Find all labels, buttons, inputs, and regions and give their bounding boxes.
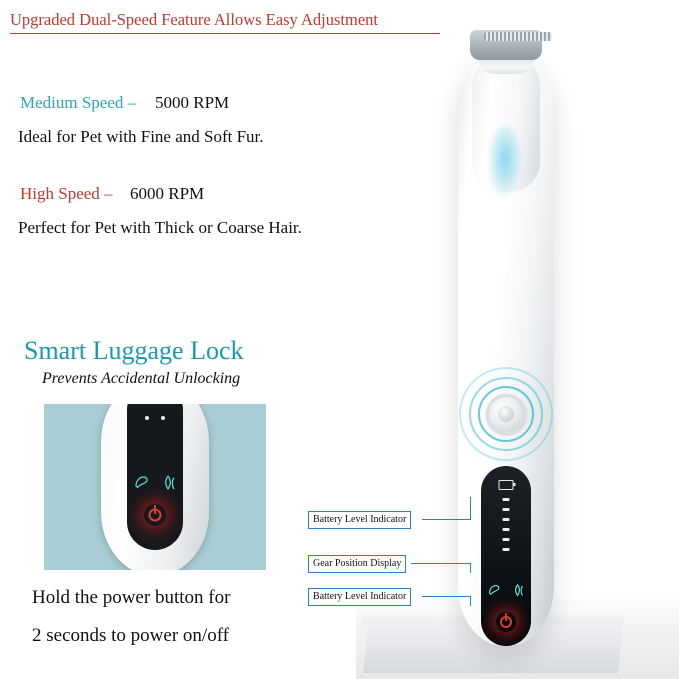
high-speed-name: High Speed [20, 184, 100, 203]
low-gear-icon [133, 474, 151, 492]
blade-teeth [484, 32, 552, 41]
battery-bar-4 [503, 528, 510, 531]
power-symbol-icon [144, 504, 166, 526]
high-speed-dash: – [104, 184, 113, 203]
callout-leader-2-vertical [470, 563, 471, 573]
battery-icon [499, 480, 514, 490]
medium-speed-description: Ideal for Pet with Fine and Soft Fur. [18, 127, 264, 147]
smart-lock-subtitle: Prevents Accidental Unlocking [42, 370, 240, 388]
battery-bar-5 [503, 538, 510, 541]
closeup-panel-photo [44, 404, 266, 570]
page-title: Upgraded Dual-Speed Feature Allows Easy … [10, 10, 378, 30]
battery-bar-2 [503, 508, 510, 511]
power-instruction-line-1: Hold the power button for [32, 587, 230, 609]
high-gear-icon [510, 583, 525, 598]
medium-speed-dash: – [128, 93, 137, 112]
power-instruction-line-2: 2 seconds to power on/off [32, 625, 229, 647]
battery-bar-3 [503, 518, 510, 521]
medium-speed-value: 5000 RPM [155, 93, 229, 113]
blue-glow-highlight [488, 126, 522, 200]
callout-battery-level-top: Battery Level Indicator [308, 511, 411, 529]
power-symbol-icon [496, 612, 516, 632]
product-infographic: Upgraded Dual-Speed Feature Allows Easy … [0, 0, 679, 679]
high-speed-value: 6000 RPM [130, 184, 204, 204]
medium-speed-name: Medium Speed [20, 93, 123, 112]
power-button[interactable] [486, 394, 526, 434]
closeup-indicator-dot-left [145, 416, 149, 420]
high-speed-label: High Speed – [20, 184, 113, 204]
closeup-indicator-dot-right [161, 416, 165, 420]
trimmer-blade-icon [470, 30, 542, 60]
callout-leader-3 [422, 596, 470, 597]
callout-leader-3-vertical [470, 596, 471, 606]
high-gear-icon [159, 474, 177, 492]
smart-lock-title: Smart Luggage Lock [24, 336, 244, 366]
callout-leader-1 [422, 519, 470, 520]
display-screen [481, 466, 531, 646]
pet-clipper-device [458, 30, 554, 646]
high-speed-description: Perfect for Pet with Thick or Coarse Hai… [18, 218, 302, 238]
callout-gear-position: Gear Position Display [308, 555, 406, 573]
battery-bar-6 [503, 548, 510, 551]
callout-leader-2 [411, 563, 470, 564]
power-button-icon[interactable] [460, 368, 552, 460]
medium-speed-label: Medium Speed – [20, 93, 136, 113]
battery-bar-1 [503, 498, 510, 501]
callout-battery-level-bottom: Battery Level Indicator [308, 588, 411, 606]
closeup-screen [127, 404, 183, 550]
low-gear-icon [487, 583, 502, 598]
callout-leader-1-vertical [470, 497, 471, 520]
product-photo [356, 0, 679, 679]
blade-neck [478, 58, 534, 74]
closeup-device-body [101, 404, 209, 570]
